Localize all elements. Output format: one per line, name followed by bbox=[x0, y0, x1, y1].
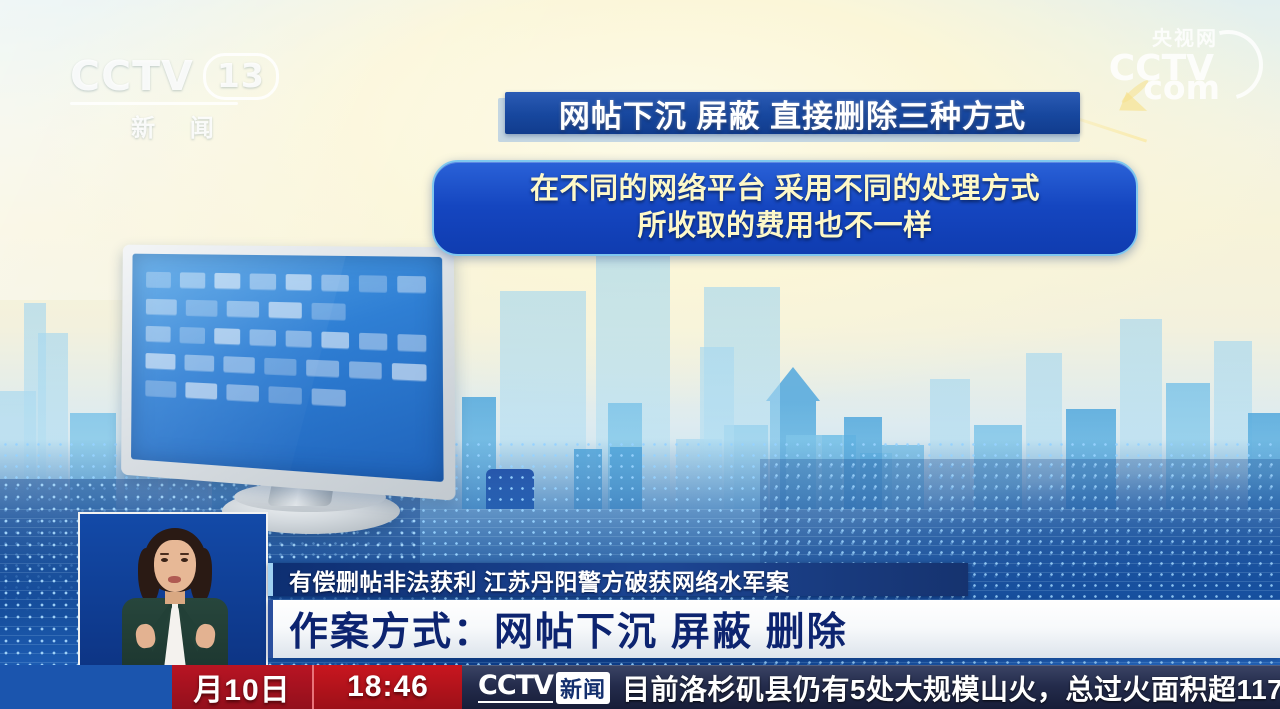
watermark-cn-label: 央视网 bbox=[1152, 22, 1218, 51]
bottom-bar-clock: 18:46 bbox=[312, 665, 462, 709]
presenter-mouth bbox=[168, 576, 181, 583]
lower-third-kicker-text: 有偿删帖非法获利 江苏丹阳警方破获网络水军案 bbox=[289, 563, 789, 597]
presenter-brow-left bbox=[160, 553, 169, 555]
lower-third-headline: 作案方式：网帖下沉 屏蔽 删除 bbox=[268, 600, 1280, 658]
lower-third-kicker: 有偿删帖非法获利 江苏丹阳警方破获网络水军案 bbox=[268, 563, 968, 596]
presenter-eye-left bbox=[161, 558, 168, 562]
watermark-cctv-com: CCTV 央视网 com bbox=[1109, 48, 1214, 89]
ticker-logo-cctv: CCTV bbox=[478, 672, 553, 702]
sign-language-pip bbox=[78, 512, 268, 667]
ticker-logo-news: 新闻 bbox=[556, 672, 610, 704]
ticker-text: 目前洛杉矶县仍有5处大规模山火，总过火面积超1177 bbox=[622, 668, 1280, 708]
channel-logo-rule bbox=[70, 102, 238, 105]
lower-third-headline-text: 作案方式：网帖下沉 屏蔽 删除 bbox=[289, 601, 848, 657]
secondary-banner-line1: 在不同的网络平台 采用不同的处理方式 bbox=[530, 172, 1040, 207]
primary-banner-text: 网帖下沉 屏蔽 直接删除三种方式 bbox=[559, 91, 1026, 136]
channel-logo-name: CCTV bbox=[70, 52, 194, 100]
channel-logo-number: 13 bbox=[203, 53, 279, 100]
bottom-bar-dots bbox=[0, 665, 172, 709]
primary-banner: 网帖下沉 屏蔽 直接删除三种方式 bbox=[505, 92, 1080, 134]
clock-text: 18:46 bbox=[347, 670, 429, 704]
monitor-illustration bbox=[122, 244, 462, 534]
bottom-bar-date: 月10日 bbox=[172, 665, 312, 709]
news-ticker: CCTV 新闻 目前洛杉矶县仍有5处大规模山火，总过火面积超1177 bbox=[462, 665, 1280, 709]
presenter-eye-right bbox=[181, 558, 188, 562]
presenter-brow-right bbox=[180, 553, 189, 555]
monitor-screen bbox=[131, 254, 444, 482]
watermark-domain: com bbox=[1143, 68, 1220, 107]
ticker-cctv-news-logo: CCTV 新闻 bbox=[478, 672, 610, 704]
bottom-bar: 月10日 18:46 CCTV 新闻 目前洛杉矶县仍有5处大规模山火，总过火面积… bbox=[0, 665, 1280, 709]
secondary-banner: 在不同的网络平台 采用不同的处理方式 所收取的费用也不一样 bbox=[432, 160, 1138, 256]
channel-logo-subtitle: 新 闻 bbox=[70, 108, 279, 143]
presenter-face bbox=[154, 540, 196, 592]
monitor-bezel bbox=[121, 245, 455, 501]
date-text: 月10日 bbox=[193, 665, 290, 709]
channel-logo-cctv13: CCTV 13 新 闻 bbox=[70, 52, 279, 143]
secondary-banner-line2: 所收取的费用也不一样 bbox=[637, 209, 932, 244]
broadcast-screenshot: CCTV 13 新 闻 CCTV 央视网 com 网帖下沉 屏蔽 直接删除三种方… bbox=[0, 0, 1280, 709]
